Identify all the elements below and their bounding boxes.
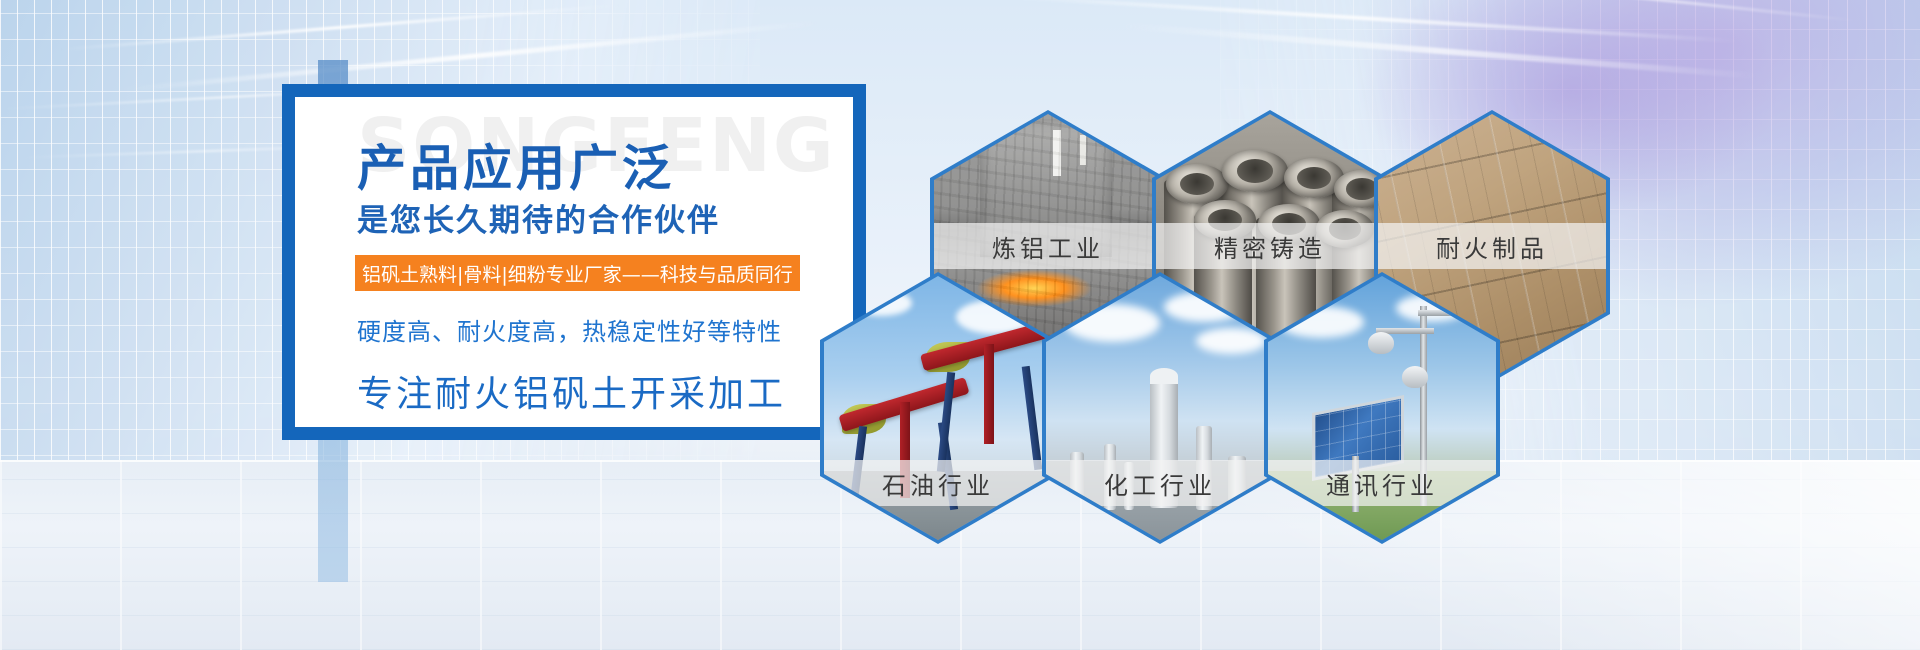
hexagon-tile-chemical[interactable]: 化工行业 <box>1042 272 1278 544</box>
hexagon-label-text: 化工行业 <box>1104 466 1216 501</box>
hexagon-label: 通讯行业 <box>1268 460 1496 506</box>
hexagon-label-text: 耐火制品 <box>1436 229 1548 264</box>
hexagon-label-text: 石油行业 <box>882 466 994 501</box>
hexagon-grid: 炼铝工业 <box>0 0 1920 650</box>
hexagon-label: 石油行业 <box>824 460 1052 506</box>
hexagon-label: 耐火制品 <box>1378 223 1606 269</box>
hexagon-label: 炼铝工业 <box>934 223 1162 269</box>
hexagon-tile-telecom[interactable]: 通讯行业 <box>1264 272 1500 544</box>
hexagon-tile-petroleum[interactable]: 石油行业 <box>820 272 1056 544</box>
hexagon-label-text: 精密铸造 <box>1214 229 1326 264</box>
banner-stage: SONGFENG 产品应用广泛 是您长久期待的合作伙伴 铝矾土熟料|骨料|细粉专… <box>0 0 1920 650</box>
hexagon-label-text: 炼铝工业 <box>992 229 1104 264</box>
hexagon-label: 精密铸造 <box>1156 223 1384 269</box>
hexagon-label-text: 通讯行业 <box>1326 466 1438 501</box>
hexagon-label: 化工行业 <box>1046 460 1274 506</box>
